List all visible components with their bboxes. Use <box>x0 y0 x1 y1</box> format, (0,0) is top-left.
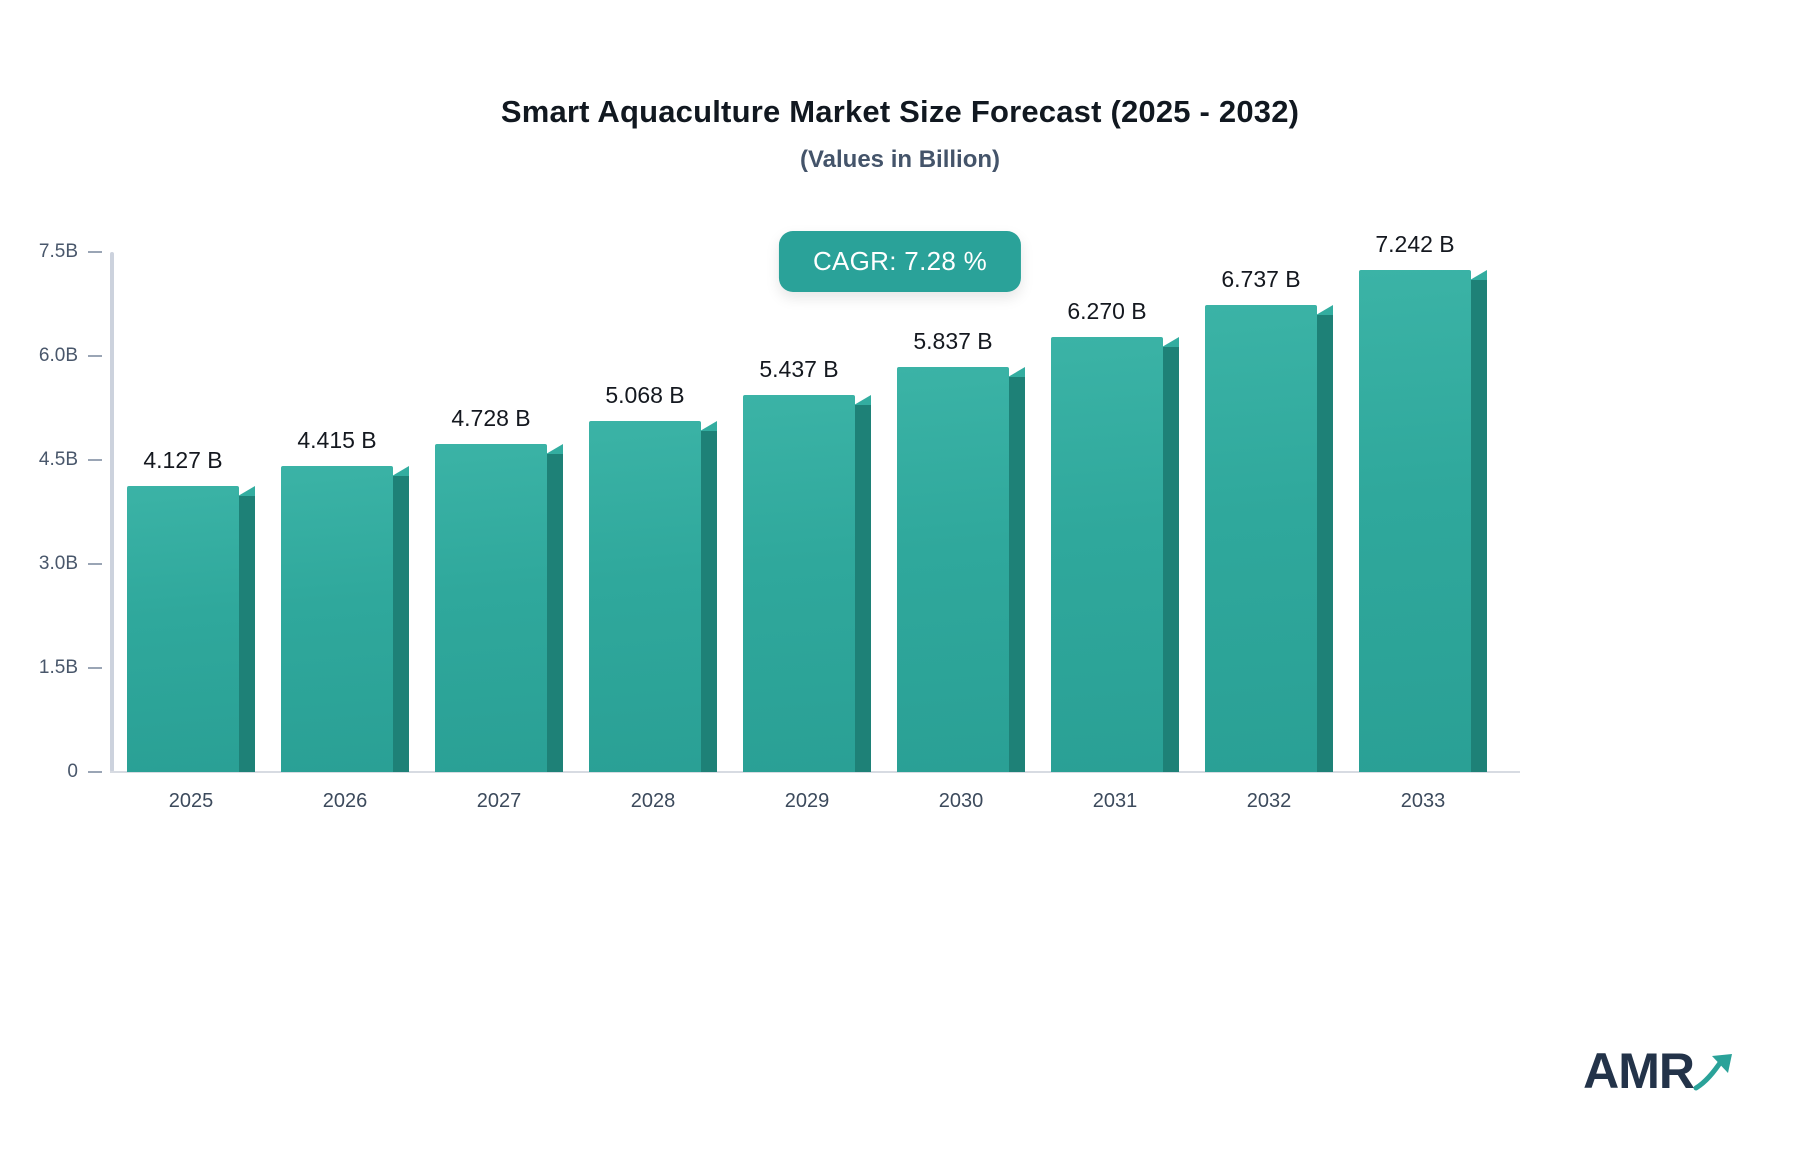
plot-area: 01.5B3.0B4.5B6.0B7.5B 4.127 B20254.415 B… <box>110 252 1500 772</box>
bar[interactable]: 7.242 B2033 <box>1359 270 1487 772</box>
bar-front-face: 5.437 B <box>743 395 855 772</box>
bar-front-face: 5.837 B <box>897 367 1009 772</box>
bar-top-face <box>546 444 563 454</box>
y-axis-tick-label: 7.5B <box>18 241 78 263</box>
bar-value-label: 4.127 B <box>143 447 222 474</box>
bar-value-label: 4.728 B <box>451 405 530 432</box>
bar-value-label: 5.068 B <box>605 382 684 409</box>
bar-top-face <box>238 486 255 496</box>
bar-top-face <box>1008 367 1025 377</box>
y-axis-tick-mark <box>88 667 102 669</box>
bar[interactable]: 5.437 B2029 <box>743 395 871 772</box>
x-axis-label: 2030 <box>939 790 984 813</box>
bar-slot: 6.737 B2032 <box>1192 252 1346 772</box>
y-axis-tick-mark <box>88 771 102 773</box>
x-axis-label: 2026 <box>323 790 368 813</box>
bar-slot: 6.270 B2031 <box>1038 252 1192 772</box>
y-axis-tick: 1.5B <box>18 657 110 679</box>
bar-value-label: 6.737 B <box>1221 266 1300 293</box>
y-axis-tick-label: 1.5B <box>18 657 78 679</box>
bar-slot: 7.242 B2033 <box>1346 252 1500 772</box>
bar-front-face: 6.737 B <box>1205 305 1317 772</box>
y-axis-tick-mark <box>88 251 102 253</box>
y-axis-tick-mark <box>88 563 102 565</box>
amr-logo: AMR <box>1583 1046 1738 1096</box>
bar-slot: 4.415 B2026 <box>268 252 422 772</box>
chart-canvas: Smart Aquaculture Market Size Forecast (… <box>0 0 1800 1156</box>
bar-slot: 5.437 B2029 <box>730 252 884 772</box>
x-axis-label: 2029 <box>785 790 830 813</box>
y-axis-tick: 6.0B <box>18 345 110 367</box>
x-axis-label: 2028 <box>631 790 676 813</box>
bar-top-face <box>1470 270 1487 280</box>
y-axis-tick-mark <box>88 459 102 461</box>
y-axis-tick: 7.5B <box>18 241 110 263</box>
y-axis-tick-label: 3.0B <box>18 553 78 575</box>
bar-side-face <box>546 454 563 772</box>
y-axis-tick: 0 <box>18 761 110 783</box>
x-axis-label: 2031 <box>1093 790 1138 813</box>
arrow-up-right-icon <box>1692 1048 1738 1094</box>
bar-side-face <box>854 405 871 772</box>
bar[interactable]: 6.270 B2031 <box>1051 337 1179 772</box>
bar-side-face <box>1008 377 1025 772</box>
bar-value-label: 5.837 B <box>913 328 992 355</box>
x-axis-label: 2033 <box>1401 790 1446 813</box>
bar-value-label: 4.415 B <box>297 427 376 454</box>
bar-front-face: 5.068 B <box>589 421 701 772</box>
bar-side-face <box>392 476 409 772</box>
bar-top-face <box>392 466 409 476</box>
y-axis-tick-label: 4.5B <box>18 449 78 471</box>
bar-top-face <box>1316 305 1333 315</box>
bar[interactable]: 4.127 B2025 <box>127 486 255 772</box>
chart-subtitle: (Values in Billion) <box>0 146 1800 174</box>
bar-front-face: 6.270 B <box>1051 337 1163 772</box>
bar-front-face: 7.242 B <box>1359 270 1471 772</box>
bar[interactable]: 6.737 B2032 <box>1205 305 1333 772</box>
y-axis-tick-mark <box>88 355 102 357</box>
bar-front-face: 4.728 B <box>435 444 547 772</box>
bar-series: 4.127 B20254.415 B20264.728 B20275.068 B… <box>114 252 1500 772</box>
bar-value-label: 5.437 B <box>759 356 838 383</box>
bar-value-label: 6.270 B <box>1067 298 1146 325</box>
bar[interactable]: 5.068 B2028 <box>589 421 717 772</box>
x-axis-label: 2032 <box>1247 790 1292 813</box>
bar-value-label: 7.242 B <box>1375 231 1454 258</box>
bar[interactable]: 5.837 B2030 <box>897 367 1025 772</box>
bar-front-face: 4.415 B <box>281 466 393 772</box>
bar[interactable]: 4.415 B2026 <box>281 466 409 772</box>
bar-top-face <box>1162 337 1179 347</box>
bar-top-face <box>700 421 717 431</box>
bar-side-face <box>1316 315 1333 772</box>
amr-logo-text: AMR <box>1583 1046 1694 1096</box>
y-axis-tick: 4.5B <box>18 449 110 471</box>
bar-slot: 5.837 B2030 <box>884 252 1038 772</box>
x-axis-label: 2025 <box>169 790 214 813</box>
bar-side-face <box>1162 347 1179 772</box>
bar-front-face: 4.127 B <box>127 486 239 772</box>
bar[interactable]: 4.728 B2027 <box>435 444 563 772</box>
y-axis-tick-label: 6.0B <box>18 345 78 367</box>
bar-slot: 4.728 B2027 <box>422 252 576 772</box>
chart-title: Smart Aquaculture Market Size Forecast (… <box>0 94 1800 130</box>
x-axis-label: 2027 <box>477 790 522 813</box>
y-axis-tick-label: 0 <box>18 761 78 783</box>
bar-top-face <box>854 395 871 405</box>
bar-side-face <box>700 431 717 772</box>
bar-side-face <box>1470 280 1487 772</box>
bar-slot: 4.127 B2025 <box>114 252 268 772</box>
y-axis-tick: 3.0B <box>18 553 110 575</box>
bar-slot: 5.068 B2028 <box>576 252 730 772</box>
bar-side-face <box>238 496 255 772</box>
